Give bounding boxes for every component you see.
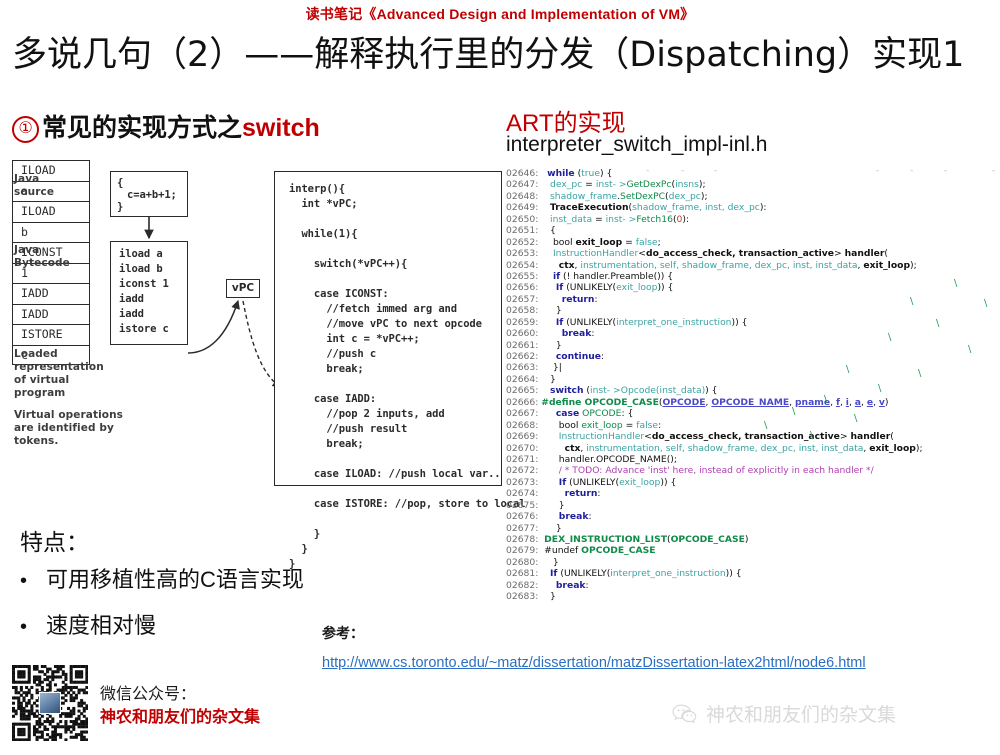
line-continuation-backslash: \ <box>764 420 767 431</box>
code-token <box>541 443 564 454</box>
code-line-number: 02654: <box>506 260 541 271</box>
code-token: OPCODE_NAME <box>711 397 789 408</box>
qr-center-avatar <box>39 692 61 714</box>
code-token: switch <box>550 385 583 396</box>
code-line-number: 02661: <box>506 340 541 351</box>
code-token <box>541 179 550 190</box>
code-token: inst- >Opcode(inst_data) <box>590 385 705 396</box>
qr-code[interactable] <box>12 665 88 741</box>
line-continuation-backslash: \ <box>936 318 939 329</box>
code-line: 02656: If (UNLIKELY(exit_loop)) { <box>506 282 998 293</box>
code-line-number: 02655: <box>506 271 541 282</box>
code-token: / * TODO: Advance 'inst' here, instead o… <box>559 465 874 476</box>
code-token: return <box>565 488 598 499</box>
code-token: exit_loop <box>581 420 622 431</box>
code-token: while <box>547 168 575 179</box>
code-line: 02683: } <box>506 591 998 602</box>
code-line-number: 02672: <box>506 465 541 476</box>
code-token: interpret_one_instruction <box>610 568 725 579</box>
code-line: 02676: break: <box>506 511 998 522</box>
code-line: 02669: InstructionHandler<do_access_chec… <box>506 431 998 442</box>
code-token: continue <box>556 351 601 362</box>
code-token: instrumentation, self, shadow_frame, dex… <box>580 260 857 271</box>
code-token: (! handler.Preamble()) { <box>560 271 673 282</box>
line-continuation-backslash: \ <box>918 368 921 379</box>
code-line-number: 02660: <box>506 328 541 339</box>
code-token: exit_loop <box>576 237 623 248</box>
code-token <box>541 385 550 396</box>
code-token: ; <box>658 237 661 248</box>
line-continuation-backslash: \ <box>792 406 795 417</box>
code-token: : <box>601 351 604 362</box>
code-line: 02674: return: <box>506 488 998 499</box>
code-line-number: 02652: <box>506 237 541 248</box>
line-continuation-backslash: \ <box>954 278 957 289</box>
art-code-listing[interactable]: 02646: while (true) {02647: dex_pc = ins… <box>506 168 998 553</box>
code-token: exit_loop <box>869 443 916 454</box>
code-token: ) <box>745 534 749 545</box>
code-line: 02664: } <box>506 374 998 385</box>
art-filename: interpreter_switch_impl-inl.h <box>506 133 767 157</box>
code-token: )) { <box>657 282 673 293</box>
watermark-text: 神农和朋友们的杂文集 <box>706 700 896 727</box>
section-number-badge: ① <box>12 116 39 143</box>
java-source-box: { c=a+b+1; } <box>110 171 188 217</box>
code-token: } <box>541 305 561 316</box>
code-token: inst_data <box>550 214 592 225</box>
code-line-number: 02669: <box>506 431 541 442</box>
java-source-label: Javasource <box>14 173 54 199</box>
code-line: 02647: dex_pc = inst- >GetDexPc(insns); <box>506 179 998 190</box>
code-line: 02650: inst_data = inst- >Fetch16(0): <box>506 214 998 225</box>
code-line-number: 02656: <box>506 282 541 293</box>
line-continuation-backslash: \ <box>984 298 987 309</box>
code-line-number: 02666: <box>506 397 541 408</box>
code-line-number: 02683: <box>506 591 541 602</box>
code-line-number: 02658: <box>506 305 541 316</box>
code-token: inst- > <box>606 214 637 225</box>
code-token: : <box>658 420 661 431</box>
code-token: ): <box>760 202 767 213</box>
code-token: false <box>636 420 658 431</box>
code-line: 02651: { <box>506 225 998 236</box>
code-token: : <box>586 580 589 591</box>
code-token: : { <box>621 408 633 419</box>
code-token: : <box>591 328 594 339</box>
code-line-number: 02679: <box>506 545 541 556</box>
code-token: shadow_frame <box>550 191 617 202</box>
bullet-glyph: • <box>20 570 46 593</box>
code-line: 02652: bool exit_loop = false; <box>506 237 998 248</box>
code-token: case <box>556 408 579 419</box>
code-token: = <box>623 420 637 431</box>
code-line: 02670: ctx, instrumentation, self, shado… <box>506 443 998 454</box>
code-line-number: 02668: <box>506 420 541 431</box>
code-line-number: 02678: <box>506 534 541 545</box>
code-token: break <box>562 328 592 339</box>
code-token: ( <box>884 248 888 259</box>
code-token <box>541 202 550 213</box>
code-token <box>541 431 559 442</box>
code-token: exit_loop <box>619 477 660 488</box>
code-line: 02663: }| <box>506 362 998 373</box>
code-token <box>541 248 553 259</box>
code-token: } <box>541 523 561 534</box>
code-line-number: 02659: <box>506 317 541 328</box>
code-line: 02665: switch (inst- >Opcode(inst_data))… <box>506 385 998 396</box>
code-line-number: 02676: <box>506 511 541 522</box>
code-token <box>541 477 559 488</box>
code-token: : <box>588 511 591 522</box>
code-token: = <box>622 237 636 248</box>
code-line-number: 02653: <box>506 248 541 259</box>
switch-dispatch-figure: Javasource JavaBytecode Loadedrepresenta… <box>12 160 502 515</box>
code-token: exit_loop <box>616 282 657 293</box>
code-token: ) { <box>600 168 612 179</box>
code-token: InstructionHandler <box>553 248 638 259</box>
vpc-box: vPC <box>226 279 260 298</box>
code-token: OPCODE <box>582 408 621 419</box>
code-token: OPCODE_CASE <box>585 397 659 408</box>
bytecode-line: iadd <box>119 307 187 322</box>
source-brace-close: } <box>117 200 123 215</box>
code-token: { <box>541 225 556 236</box>
reference-link[interactable]: http://www.cs.toronto.edu/~matz/disserta… <box>322 655 866 671</box>
bytecode-line: istore c <box>119 322 187 337</box>
code-line: 02659: If (UNLIKELY(interpret_one_instru… <box>506 317 998 328</box>
code-token: bool <box>553 237 573 248</box>
code-token <box>541 351 556 362</box>
line-continuation-backslash: \ <box>968 344 971 355</box>
line-continuation-backslash: \ <box>824 394 827 405</box>
scan-artifact-dash: - <box>646 166 649 177</box>
code-token: OPCODE_CASE <box>581 545 655 556</box>
code-token <box>541 465 559 476</box>
code-token: ctx <box>565 443 581 454</box>
line-continuation-backslash: \ <box>910 296 913 307</box>
code-line: 02661: } <box>506 340 998 351</box>
code-line: 02649: TraceExecution(shadow_frame, inst… <box>506 202 998 213</box>
code-token: do_access_check, transaction_active <box>646 248 834 259</box>
code-token: #define <box>541 397 584 408</box>
bytecode-line: iconst 1 <box>119 277 187 292</box>
code-token <box>541 271 553 282</box>
code-token: ) { <box>705 385 717 396</box>
bytecode-line: iload a <box>119 247 187 262</box>
code-line-number: 02681: <box>506 568 541 579</box>
code-token: > <box>834 248 845 259</box>
code-token: < <box>638 248 646 259</box>
code-token: } <box>541 340 561 351</box>
code-line: 02678: DEX_INSTRUCTION_LIST(OPCODE_CASE) <box>506 534 998 545</box>
code-token: handler <box>850 431 890 442</box>
code-line: 02675: } <box>506 500 998 511</box>
code-line: 02672: / * TODO: Advance 'inst' here, in… <box>506 465 998 476</box>
wechat-account-name: 神农和朋友们的杂文集 <box>100 703 260 727</box>
code-line: 02677: } <box>506 523 998 534</box>
code-line: 02654: ctx, instrumentation, self, shado… <box>506 260 998 271</box>
code-line-number: 02664: <box>506 374 541 385</box>
line-continuation-backslash: \ <box>878 383 881 394</box>
line-continuation-backslash: \ <box>854 413 857 424</box>
scan-artifact-dash: - <box>944 166 947 177</box>
code-line: 02666: #define OPCODE_CASE(OPCODE, OPCOD… <box>506 397 998 408</box>
code-line-number: 02649: <box>506 202 541 213</box>
code-token: insns <box>675 179 699 190</box>
code-token: < <box>644 431 652 442</box>
code-line-number: 02650: <box>506 214 541 225</box>
code-line: 02655: if (! handler.Preamble()) { <box>506 271 998 282</box>
slide-canvas: 读书笔记《Advanced Design and Implementation … <box>0 0 1000 755</box>
source-body: c=a+b+1; <box>127 188 177 203</box>
code-token: } <box>541 374 556 385</box>
section-heading-cn: 常见的实现方式之 <box>42 114 242 142</box>
code-line-number: 02671: <box>506 454 541 465</box>
code-line-number: 02647: <box>506 179 541 190</box>
code-token: = <box>582 179 596 190</box>
code-token: )) { <box>726 568 742 579</box>
code-line: 02680: } <box>506 557 998 568</box>
loaded-representation-label: Loadedrepresentationof virtualprogram <box>14 348 104 400</box>
code-token: instrumentation, self, shadow_frame, dex… <box>586 443 863 454</box>
code-token: (UNLIKELY( <box>566 477 619 488</box>
virtual-operations-label: Virtual operationsare identified bytoken… <box>14 409 123 448</box>
code-line-number: 02665: <box>506 385 541 396</box>
code-line-number: 02667: <box>506 408 541 419</box>
code-line-number: 02673: <box>506 477 541 488</box>
code-token: shadow_frame, inst, dex_pc <box>632 202 760 213</box>
code-token <box>541 408 556 419</box>
code-line: 02667: case OPCODE: { <box>506 408 998 419</box>
bytecode-line: iload b <box>119 262 187 277</box>
code-line: 02646: while (true) { <box>506 168 998 179</box>
code-token <box>541 328 561 339</box>
code-token: )) { <box>732 317 748 328</box>
code-line: 02648: shadow_frame.SetDexPC(dex_pc); <box>506 191 998 202</box>
code-token <box>541 260 559 271</box>
code-token: ( <box>890 431 894 442</box>
code-token: } <box>541 557 559 568</box>
code-token: #undef <box>541 545 581 556</box>
features-title: 特点： <box>20 523 89 557</box>
section-heading-en: switch <box>242 114 320 142</box>
code-token: InstructionHandler <box>559 431 644 442</box>
java-bytecode-box: iload aiload biconst 1iaddiaddistore c <box>110 241 188 345</box>
line-continuation-backslash: \ <box>846 364 849 375</box>
code-token <box>541 580 556 591</box>
code-token: }| <box>541 362 562 373</box>
line-continuation-backslash: \ <box>810 430 813 441</box>
code-line: 02681: If (UNLIKELY(interpret_one_instru… <box>506 568 998 579</box>
code-token: > <box>840 431 851 442</box>
feature-item-2-label: 速度相对慢 <box>46 613 156 638</box>
bullet-glyph: • <box>20 616 46 639</box>
code-line: 02660: break: <box>506 328 998 339</box>
code-line-number: 02675: <box>506 500 541 511</box>
code-line: 02662: continue: <box>506 351 998 362</box>
code-line-number: 02674: <box>506 488 541 499</box>
code-token: GetDexPc <box>627 179 672 190</box>
interpreter-code-text: interp(){ int *vPC; while(1){ switch(*vP… <box>289 182 525 572</box>
code-token: SetDexPC <box>620 191 665 202</box>
feature-item-1-label: 可用移植性高的C语言实现 <box>46 567 304 592</box>
code-token: ); <box>699 179 706 190</box>
code-line-number: 02657: <box>506 294 541 305</box>
code-token: OPCODE <box>662 397 705 408</box>
feature-item-1: •可用移植性高的C语言实现 <box>20 562 304 594</box>
code-line-number: 02651: <box>506 225 541 236</box>
reference-label: 参考： <box>322 623 364 643</box>
code-token: } <box>541 500 564 511</box>
code-token: inst- > <box>596 179 627 190</box>
code-token: ); <box>916 443 923 454</box>
code-line: 02671: handler.OPCODE_NAME(); <box>506 454 998 465</box>
code-token: OPCODE_CASE <box>671 534 745 545</box>
code-line-number: 02662: <box>506 351 541 362</box>
code-token: ): <box>682 214 689 225</box>
section-1-heading: ①常见的实现方式之switch <box>12 108 320 144</box>
wechat-account-label: 微信公众号： <box>100 680 196 704</box>
code-line-number: 02648: <box>506 191 541 202</box>
code-token: (UNLIKELY( <box>563 317 616 328</box>
code-token <box>541 317 556 328</box>
code-token <box>541 488 564 499</box>
scan-artifact-dash: - <box>876 166 879 177</box>
source-brace-open: { <box>117 176 123 191</box>
code-token <box>541 282 556 293</box>
code-token: Fetch16 <box>636 214 673 225</box>
code-token: true <box>581 168 600 179</box>
code-line: 02657: return: <box>506 294 998 305</box>
code-token: ctx <box>559 260 575 271</box>
code-line: 02679: #undef OPCODE_CASE <box>506 545 998 556</box>
code-token: handler.OPCODE_NAME(); <box>541 454 677 465</box>
code-line-number: 02680: <box>506 557 541 568</box>
line-continuation-backslash: \ <box>888 332 891 343</box>
code-token <box>541 294 561 305</box>
code-line: 02668: bool exit_loop = false: <box>506 420 998 431</box>
code-token: false <box>636 237 658 248</box>
code-token: ) <box>885 397 889 408</box>
code-token: : <box>597 488 600 499</box>
scan-artifact-dash: - <box>681 166 684 177</box>
code-token <box>541 511 559 522</box>
bytecode-line: iadd <box>119 292 187 307</box>
code-line: 02682: break: <box>506 580 998 591</box>
code-token: )) { <box>660 477 676 488</box>
code-line-number: 02646: <box>506 168 541 179</box>
code-line-number: 02677: <box>506 523 541 534</box>
code-token: TraceExecution <box>550 202 628 213</box>
code-line-number: 02670: <box>506 443 541 454</box>
code-line: 02673: If (UNLIKELY(exit_loop)) { <box>506 477 998 488</box>
code-token: handler <box>845 248 885 259</box>
code-token: exit_loop <box>863 260 910 271</box>
slide-kicker: 读书笔记《Advanced Design and Implementation … <box>0 4 1000 24</box>
interpreter-code-box: interp(){ int *vPC; while(1){ switch(*vP… <box>274 171 502 486</box>
code-line-number: 02663: <box>506 362 541 373</box>
code-token <box>541 420 559 431</box>
code-token: return <box>562 294 595 305</box>
code-token <box>541 191 550 202</box>
code-token: dex_pc <box>550 179 582 190</box>
code-token: bool <box>559 420 579 431</box>
code-token: interpret_one_instruction <box>616 317 731 328</box>
wechat-icon <box>672 704 698 724</box>
java-bytecode-label: JavaBytecode <box>14 244 70 270</box>
code-token: break <box>556 580 586 591</box>
code-token: (UNLIKELY( <box>557 568 610 579</box>
scan-artifact-dash: - <box>910 166 913 177</box>
code-token: ); <box>701 191 708 202</box>
code-line: 02653: InstructionHandler<do_access_chec… <box>506 248 998 259</box>
code-token: } <box>541 591 556 602</box>
feature-item-2: •速度相对慢 <box>20 608 156 640</box>
code-token: dex_pc <box>669 191 701 202</box>
code-token <box>541 568 550 579</box>
scan-artifact-dash: - <box>992 166 995 177</box>
code-line-number: 02682: <box>506 580 541 591</box>
code-line: 02658: } <box>506 305 998 316</box>
code-token <box>541 214 550 225</box>
scan-artifact-dash: - <box>714 166 717 177</box>
code-token <box>541 237 553 248</box>
code-token: = <box>592 214 606 225</box>
code-token: ); <box>910 260 917 271</box>
code-token: : <box>594 294 597 305</box>
code-token: (UNLIKELY( <box>563 282 616 293</box>
page-title: 多说几句（2）——解释执行里的分发（Dispatching）实现1 <box>12 26 988 77</box>
watermark: 神农和朋友们的杂文集 <box>672 700 896 727</box>
code-token: break <box>559 511 589 522</box>
code-token: DEX_INSTRUCTION_LIST <box>544 534 667 545</box>
